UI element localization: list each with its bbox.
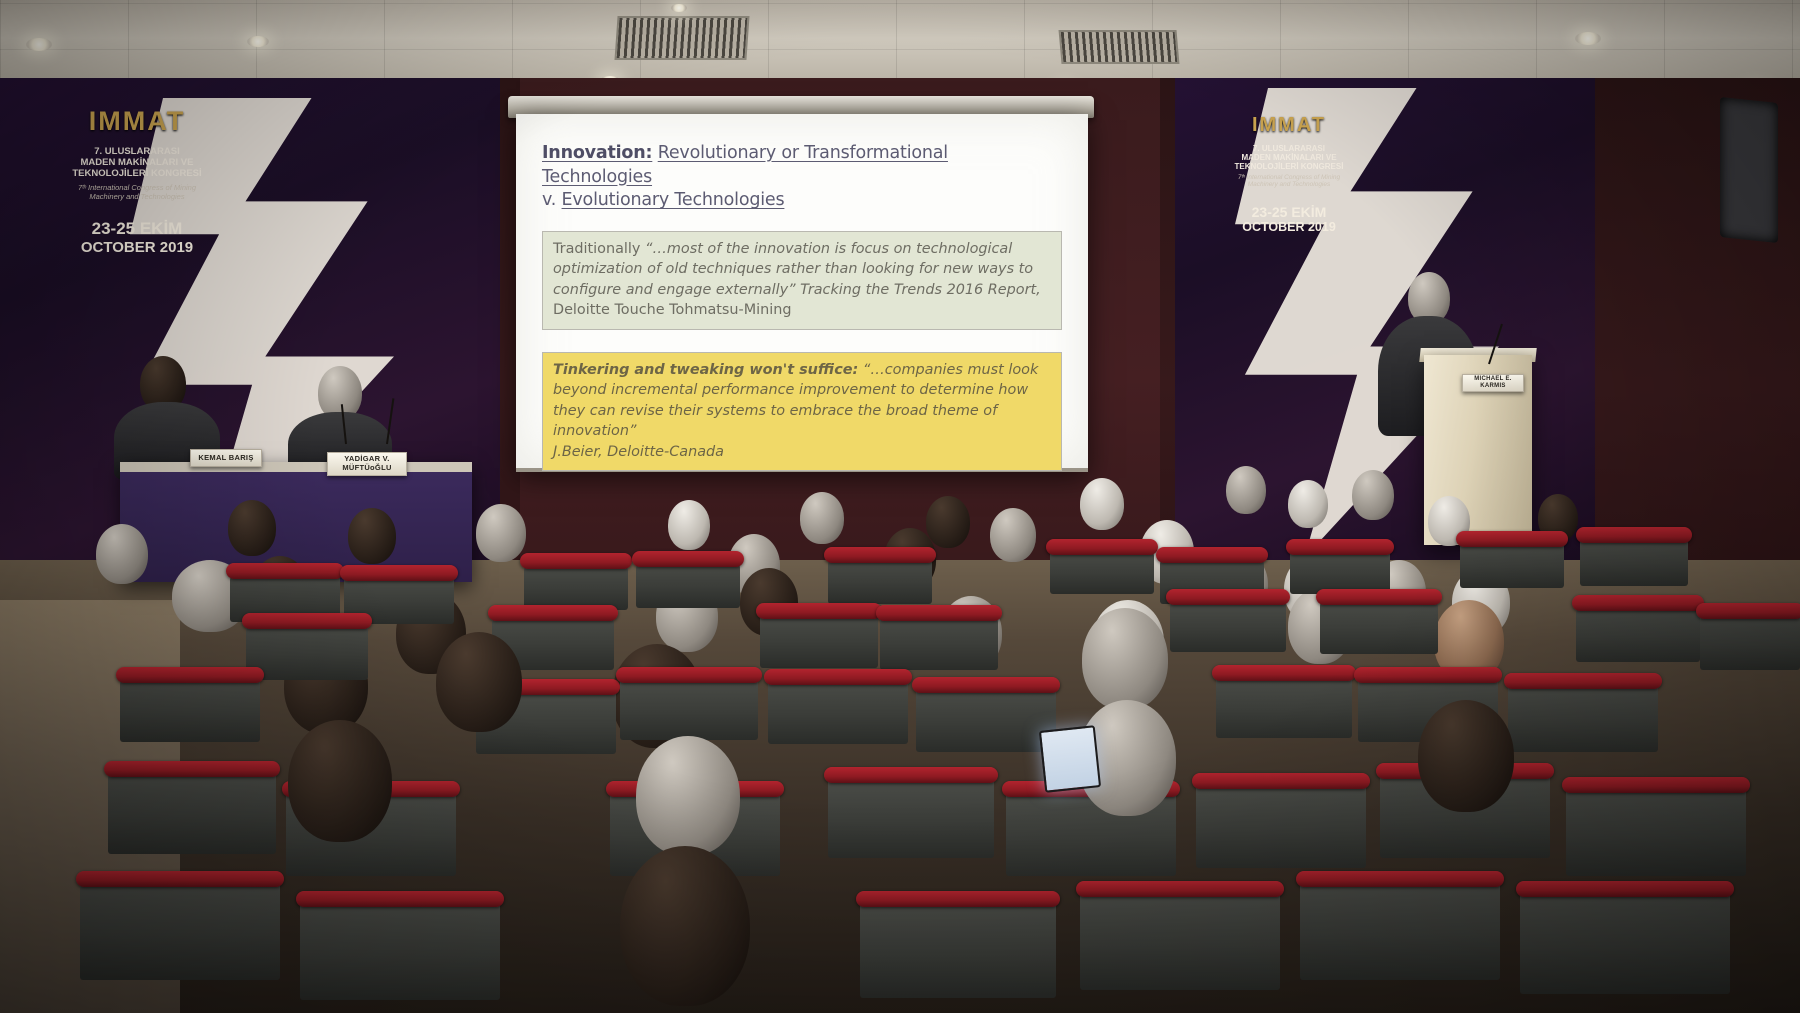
presentation-slide: Innovation: Revolutionary or Transformat…: [516, 114, 1088, 472]
seat[interactable]: [1300, 880, 1500, 980]
audience-head: [436, 632, 522, 732]
ceiling-vent-icon: [1059, 30, 1180, 64]
banner-right-line1: 7. ULUSLARARASI: [1201, 144, 1377, 153]
nameplate-panelist-1: KEMAL BARIŞ: [190, 449, 262, 467]
tablet-device[interactable]: [1039, 725, 1101, 793]
seat[interactable]: [1320, 598, 1438, 654]
gray-quote-lead: Traditionally: [553, 241, 640, 257]
audience-head: [1082, 608, 1168, 710]
audience-head: [348, 508, 396, 564]
seat[interactable]: [120, 676, 260, 742]
yellow-quote-lead: Tinkering and tweaking won't suffice:: [553, 362, 858, 378]
seat[interactable]: [828, 776, 994, 858]
seat[interactable]: [636, 560, 740, 608]
banner-right-subtitle1: 7ᵗʰ International Congress of Mining: [1201, 174, 1377, 181]
seat[interactable]: [108, 770, 276, 854]
banner-left-line2: MADEN MAKİNALARI VE: [42, 157, 232, 168]
slide-title-bold: Innovation:: [542, 143, 652, 163]
slide-title-underlined: Evolutionary Technologies: [562, 190, 785, 210]
seat[interactable]: [524, 562, 628, 610]
ceiling-vent-icon: [614, 16, 749, 60]
seat[interactable]: [1700, 612, 1800, 670]
seat[interactable]: [1566, 786, 1746, 876]
banner-right-date2: OCTOBER 2019: [1201, 220, 1377, 234]
seat[interactable]: [1196, 782, 1366, 868]
seat[interactable]: [1216, 674, 1352, 738]
audience-head: [990, 508, 1036, 562]
audience-head: [228, 500, 276, 556]
banner-right-date1: 23-25 EKİM: [1201, 204, 1377, 220]
seat[interactable]: [828, 556, 932, 604]
seat[interactable]: [300, 900, 500, 1000]
seat[interactable]: [760, 612, 878, 668]
seat[interactable]: [1460, 540, 1564, 588]
seat[interactable]: [1576, 604, 1700, 662]
banner-right-subtitle2: Machinery and Technologies: [1201, 181, 1377, 188]
banner-left-line1: 7. ULUSLARARASI: [42, 146, 232, 157]
banner-left-line3: TEKNOLOJİLERİ KONGRESİ: [42, 168, 232, 179]
yellow-quote-attribution: J.Beier, Deloitte-Canada: [553, 442, 1051, 462]
slide-title: Innovation: Revolutionary or Transformat…: [542, 142, 1062, 213]
seat[interactable]: [1520, 890, 1730, 994]
audience-head: [926, 496, 970, 548]
gray-quote-source: Deloitte Touche Tohmatsu-Mining: [553, 302, 792, 318]
audience-head: [668, 500, 710, 550]
banner-left-logo: IMMAT: [42, 106, 232, 137]
ceiling-light-icon: [1575, 32, 1601, 45]
banner-right-logo: IMMAT: [1201, 114, 1377, 137]
auditorium-scene: IMMAT 7. ULUSLARARASI MADEN MAKİNALARI V…: [0, 0, 1800, 1013]
banner-left-date1: 23-25 EKİM: [42, 219, 232, 239]
seat[interactable]: [1080, 890, 1280, 990]
seat[interactable]: [880, 614, 998, 670]
seat[interactable]: [768, 678, 908, 744]
seat[interactable]: [860, 900, 1056, 998]
nameplate-panelist-2: YADİGAR V. MÜFTÜoĞLU: [327, 452, 407, 476]
audience-head: [620, 846, 750, 1006]
seat[interactable]: [1050, 548, 1154, 594]
banner-right-line3: TEKNOLOJİLERİ KONGRESİ: [1201, 162, 1377, 171]
audience-head: [636, 736, 740, 856]
gray-quote-box: Traditionally “…most of the innovation i…: [542, 231, 1062, 330]
seat[interactable]: [1170, 598, 1286, 652]
audience-head: [800, 492, 844, 544]
slide-title-prefix: v.: [542, 190, 556, 210]
banner-right-line2: MADEN MAKİNALARI VE: [1201, 153, 1377, 162]
banner-left-date2: OCTOBER 2019: [42, 239, 232, 256]
nameplate-speaker: MICHAEL E. KARMIS: [1462, 374, 1524, 392]
banner-right: IMMAT 7. ULUSLARARASI MADEN MAKİNALARI V…: [1175, 78, 1595, 598]
seat[interactable]: [80, 880, 280, 980]
gray-quote-source-italic: Tracking the Trends 2016 Report,: [800, 282, 1041, 298]
loudspeaker: [1720, 97, 1778, 243]
audience-head: [96, 524, 148, 584]
seat[interactable]: [1290, 548, 1390, 594]
banner-left-subtitle2: Machinery and Technologies: [42, 192, 232, 201]
audience-head: [288, 720, 392, 842]
ceiling-light-icon: [247, 36, 269, 47]
banner-left-subtitle1: 7ᵗʰ International Congress of Mining: [42, 183, 232, 192]
seat[interactable]: [620, 676, 758, 740]
ceiling-light-icon: [26, 38, 52, 51]
seat[interactable]: [1508, 682, 1658, 752]
audience-head: [1418, 700, 1514, 812]
attendee-head: [1226, 466, 1266, 514]
attendee-head: [1352, 470, 1394, 520]
ceiling-light-icon: [671, 4, 687, 12]
yellow-quote-box: Tinkering and tweaking won't suffice: “……: [542, 352, 1062, 471]
seat[interactable]: [246, 622, 368, 680]
attendee-head: [1080, 478, 1124, 530]
attendee-head: [1288, 480, 1328, 528]
seat[interactable]: [916, 686, 1056, 752]
seat[interactable]: [1580, 536, 1688, 586]
audience-head: [476, 504, 526, 562]
